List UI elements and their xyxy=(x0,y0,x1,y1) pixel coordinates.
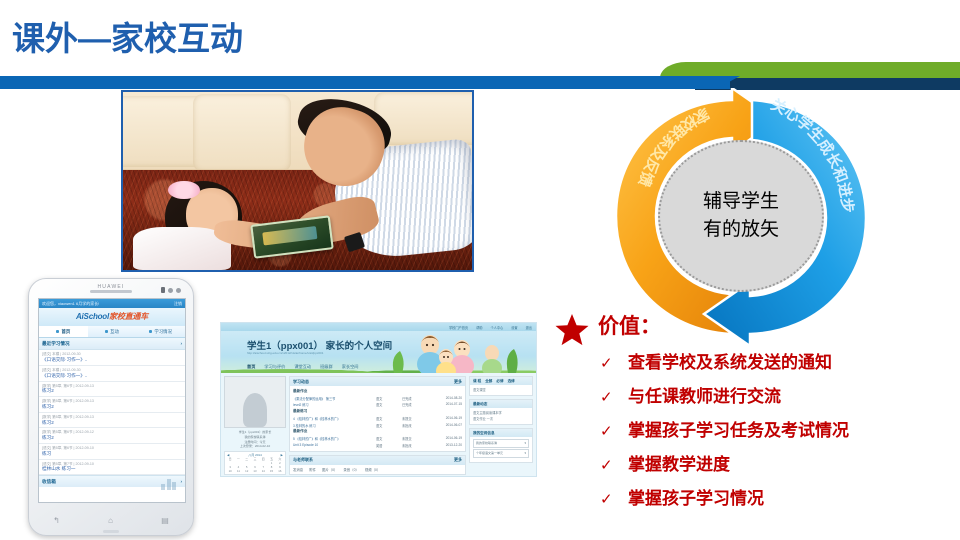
portal-nav-item[interactable]: 班级群 xyxy=(320,364,333,370)
latest-activity-panel: 最新动态 语文主题阅读课本学 语文作业 一次 xyxy=(469,399,533,425)
panel-title: 学习动态 xyxy=(293,379,309,385)
avatar-caption-login: 上次登录：2014-02-10 xyxy=(224,444,286,449)
row-status: 未批改 xyxy=(402,423,428,428)
portal-hero-banner: 学生1（ppx001） 家长的个人空间 http://aischool.szig… xyxy=(221,331,536,373)
row-title[interactable]: 《乘法分配律的运用》 第三节 xyxy=(293,396,376,401)
table-row[interactable]: 3 桂林的水 练习 语文 未批改 2014-06-07 xyxy=(293,422,462,429)
menu-icon[interactable]: ▤ xyxy=(161,516,169,525)
row-date: 2014-06-07 xyxy=(428,423,462,428)
panel-title: 我的空间信息 xyxy=(473,431,495,436)
panel-header: 学习动态 更多 xyxy=(290,377,465,386)
avatar-caption: 学生1（ppx001）的家长 我的家校联系簿 注册时间：今天 上次登录：2014… xyxy=(224,428,286,449)
row-subject: 英语 xyxy=(376,443,402,448)
panel-more-link[interactable]: 更多 xyxy=(454,457,462,463)
row-subject: 语文 xyxy=(376,416,402,421)
panel-header: 与老师联系 更多 xyxy=(290,456,465,465)
portal-left-column: 学生1（ppx001）的家长 我的家校联系簿 注册时间：今天 上次登录：2014… xyxy=(224,376,286,477)
app-tab-label: 首页 xyxy=(61,329,70,335)
study-dynamics-panel: 学习动态 更多 最新作业 《乘法分配律的运用》 第三节 语文 已完成 2014-… xyxy=(289,376,466,452)
app-tab-home[interactable]: 首页 xyxy=(39,326,88,338)
portal-nav: 首页 学习与评价 课堂互动 班级群 家长空间 xyxy=(247,364,358,370)
panel-title: 与老师联系 xyxy=(293,457,313,463)
avatar xyxy=(224,376,286,428)
course-panel: 课 程 全部 必修 选修 语文课堂 xyxy=(469,376,533,396)
app-logo-sub: 家校直通车 xyxy=(109,312,148,321)
phone-screen: 欢迎您，xiaowen1 6月学的家长! 注销 AiSchool家校直通车 首页… xyxy=(38,298,186,503)
image-upload-button[interactable]: 图片（0） xyxy=(322,467,337,472)
portal-body: 学生1（ppx001）的家长 我的家校联系簿 注册时间：今天 上次登录：2014… xyxy=(221,373,536,477)
select-value: 我的家校联系簿 xyxy=(476,441,497,447)
portal-top-strip: 学校门户首页 帮助 个人中心 设置 退出 xyxy=(221,323,536,331)
row-date: 2014-08-20 xyxy=(428,396,462,401)
app-logo-main: AiSchool xyxy=(76,312,109,321)
app-inbox-label: 收信箱 xyxy=(42,479,56,485)
back-icon[interactable]: ↰ xyxy=(53,516,60,525)
app-tab-bar: 首页 互动 学习情况 xyxy=(39,326,185,339)
panel-toolbar: 发消息 附件 图片（0） 录音（0） 视频（0） xyxy=(290,465,465,474)
chevron-right-icon[interactable]: › xyxy=(180,341,182,347)
parent-portal-screenshot: 学校门户首页 帮助 个人中心 设置 退出 xyxy=(220,322,537,477)
check-icon: ✓ xyxy=(600,388,616,406)
calendar-day[interactable]: 14 xyxy=(259,469,267,473)
red-star-icon xyxy=(554,312,590,348)
table-row[interactable]: Unit 3 Episode 10 英语 未批改 2013-12-20 xyxy=(293,442,462,449)
panel-body: 语文主题阅读课本学 语文作业 一次 xyxy=(470,408,532,424)
photo-girl-hairbow xyxy=(168,181,199,199)
app-tab-label: 互动 xyxy=(110,329,119,335)
row-date: 2014-06-19 xyxy=(428,416,462,421)
calendar-day[interactable]: 16 xyxy=(276,469,284,473)
family-illustration xyxy=(388,333,528,373)
calendar-day[interactable]: 10 xyxy=(226,469,234,473)
row-status: 已完成 xyxy=(402,396,428,401)
row-subject: 语文 xyxy=(376,423,402,428)
chat-icon xyxy=(105,330,108,333)
home-icon xyxy=(56,330,59,333)
value-item-label: 掌握教学进度 xyxy=(628,450,730,475)
value-list: ✓ 查看学校及系统发送的通知 ✓ 与任课教师进行交流 ✓ 掌握孩子学习任务及考试… xyxy=(600,348,849,518)
table-row[interactable]: 4 《桂林的广》和《桂林水的广》 语文 未提交 2014-06-19 xyxy=(293,415,462,422)
list-item-title[interactable]: 练习2 xyxy=(42,420,182,426)
row-subject: 语文 xyxy=(376,396,402,401)
portal-top-link[interactable]: 个人中心 xyxy=(491,325,504,330)
list-item: ✓ 掌握孩子学习情况 xyxy=(600,484,849,518)
row-title[interactable]: Unit 3 Episode 10 xyxy=(293,443,376,448)
row-status: 未批改 xyxy=(402,443,428,448)
list-item-title[interactable]: 练习2 xyxy=(42,404,182,410)
app-tab-interact[interactable]: 互动 xyxy=(88,326,137,338)
group-title: 最新练习 xyxy=(293,408,462,415)
row-date: 2013-12-20 xyxy=(428,443,462,448)
portal-nav-item[interactable]: 学习与评价 xyxy=(264,364,285,370)
attachment-icon[interactable]: 附件 xyxy=(309,467,316,472)
portal-url-text: http://aischool.szig.edu.cn/v2012/visite… xyxy=(247,351,323,355)
row-title[interactable]: level2 练习 xyxy=(293,402,376,407)
app-section-header: 最近学习情况 › xyxy=(39,338,185,350)
filter-tag[interactable]: 全部 xyxy=(485,379,492,384)
row-title[interactable]: 4 《桂林的广》和《桂林水的广》 xyxy=(293,416,376,421)
photo-tablet-screen xyxy=(262,226,317,246)
chevron-down-icon[interactable]: ▾ xyxy=(524,441,526,447)
portal-top-link[interactable]: 退出 xyxy=(526,325,532,330)
check-icon: ✓ xyxy=(600,354,616,372)
panel-header: 最新动态 xyxy=(470,400,532,408)
list-item[interactable]: [数学] 第5章, 第6节 | 2012-09-13 练习2 xyxy=(39,382,185,398)
list-item-title[interactable]: 《口语交际·习作一》.. xyxy=(42,373,182,379)
row-subject: 语文 xyxy=(376,436,402,441)
phone-bottom-bar xyxy=(103,530,119,533)
list-item[interactable]: [数学] 第5章, 第6节 | 2012-09-13 练习2 xyxy=(39,413,185,429)
video-upload-button[interactable]: 视频（0） xyxy=(365,467,380,472)
group-title: 最新作业 xyxy=(293,388,462,395)
portal-top-link[interactable]: 设置 xyxy=(511,325,517,330)
panel-header: 课 程 全部 必修 选修 xyxy=(470,377,532,385)
row-date: 2014-07-15 xyxy=(428,402,462,407)
app-welcome-text: 欢迎您，xiaowen1 6月学的家长! xyxy=(42,301,99,306)
panel-title: 课 程 xyxy=(473,379,481,384)
battery-icon xyxy=(161,287,165,293)
portal-page-title: 学生1（ppx001） 家长的个人空间 xyxy=(247,338,392,352)
portal-nav-item[interactable]: 课堂互动 xyxy=(294,364,311,370)
portal-middle-column: 学习动态 更多 最新作业 《乘法分配律的运用》 第三节 语文 已完成 2014-… xyxy=(289,376,466,477)
row-title[interactable]: 3 桂林的水 练习 xyxy=(293,423,376,428)
row-title[interactable]: 5 《桂林的广》和《桂林水的广》 xyxy=(293,436,376,441)
chart-icon xyxy=(149,330,152,333)
table-row[interactable]: 《乘法分配律的运用》 第三节 语文 已完成 2014-08-20 xyxy=(293,395,462,402)
group-title: 最新作业 xyxy=(293,428,462,435)
select-value: 个年级语文第一单元 xyxy=(476,451,503,457)
watermark-chart-icon xyxy=(161,476,181,490)
panel-title: 最新动态 xyxy=(473,402,487,407)
app-tab-label: 学习情况 xyxy=(154,329,172,335)
panel-body: 最新作业 《乘法分配律的运用》 第三节 语文 已完成 2014-08-20 le… xyxy=(290,386,465,451)
portal-top-link[interactable]: 帮助 xyxy=(476,325,482,330)
family-photo xyxy=(121,90,474,272)
app-section-title: 最近学习情况 xyxy=(42,341,70,347)
phone-nav-buttons: ↰ ⌂ ▤ xyxy=(29,516,193,525)
cycle-center-line2: 有的放矢 xyxy=(703,216,779,244)
list-item-title[interactable]: 《口语交际·习作一》.. xyxy=(42,357,182,363)
list-item[interactable]: [语文] 第5章, 第6节 | 2012-09-10 练习 xyxy=(39,444,185,460)
calendar-day[interactable]: 12 xyxy=(243,469,251,473)
cycle-center-label: 辅导学生 有的放矢 xyxy=(658,140,824,292)
row-subject: 语文 xyxy=(376,402,402,407)
my-space-panel: 我的空间信息 我的家校联系簿 ▾ 个年级语文第一单元 ▾ xyxy=(469,428,533,462)
send-message-button[interactable]: 发消息 xyxy=(293,467,303,472)
value-item-label: 与任课教师进行交流 xyxy=(628,382,781,407)
list-item[interactable]: [语文] 本模 | 2012-09-30 《口语交际·习作一》.. xyxy=(39,366,185,382)
audio-upload-button[interactable]: 录音（0） xyxy=(343,467,358,472)
list-item-title[interactable]: 练习 xyxy=(42,451,182,457)
panel-header: 我的空间信息 xyxy=(470,429,532,437)
dot-icon xyxy=(168,288,173,293)
check-icon: ✓ xyxy=(600,422,616,440)
camera-icon xyxy=(176,288,181,293)
value-item-label: 掌握孩子学习情况 xyxy=(628,484,764,509)
filter-tag[interactable]: 选修 xyxy=(508,379,515,384)
row-status: 未提交 xyxy=(402,416,428,421)
calendar-day[interactable]: 15 xyxy=(267,469,275,473)
list-item-title[interactable]: 桂林山水 练习一 xyxy=(42,466,182,472)
cycle-center-line1: 辅导学生 xyxy=(703,188,779,216)
table-row[interactable]: 5 《桂林的广》和《桂林水的广》 语文 未提交 2014-06-19 xyxy=(293,435,462,442)
list-item[interactable]: [数学] 第5章, 第6节 | 2012-09-13 练习2 xyxy=(39,397,185,413)
portal-top-link[interactable]: 学校门户首页 xyxy=(449,325,468,330)
list-item: ✓ 查看学校及系统发送的通知 xyxy=(600,348,849,382)
filter-tag[interactable]: 必修 xyxy=(496,379,503,384)
panel-body: 我的家校联系簿 ▾ 个年级语文第一单元 ▾ xyxy=(470,437,532,461)
app-top-bar: 欢迎您，xiaowen1 6月学的家长! 注销 xyxy=(39,299,185,308)
activity-item[interactable]: 语文作业 一次 xyxy=(473,416,529,422)
app-tab-study[interactable]: 学习情况 xyxy=(136,326,185,338)
portal-right-column: 课 程 全部 必修 选修 语文课堂 最新动态 语文主题阅读课本学 xyxy=(469,376,533,477)
app-study-list: [语文] 本模 | 2012-09-30 《口语交际·习作一》.. [语文] 本… xyxy=(39,350,185,475)
list-item: ✓ 掌握孩子学习任务及考试情况 xyxy=(600,416,849,450)
check-icon: ✓ xyxy=(600,490,616,508)
list-item[interactable]: [数学] 第5章, 第6节 | 2012-09-12 练习2 xyxy=(39,428,185,444)
phone-mockup: HUAWEI 欢迎您，xiaowen1 6月学的家长! 注销 AiSchool家… xyxy=(28,278,194,536)
row-date: 2014-06-19 xyxy=(428,436,462,441)
list-item[interactable]: [语文] 第5章, 第7节 | 2012-09-10 桂林山水 练习一 xyxy=(39,460,185,476)
panel-body: 语文课堂 xyxy=(470,385,532,395)
value-item-label: 掌握孩子学习任务及考试情况 xyxy=(628,416,849,441)
contact-teacher-panel: 与老师联系 更多 发消息 附件 图片（0） 录音（0） 视频（0） xyxy=(289,455,466,475)
phone-status-icons xyxy=(161,287,181,293)
home-icon[interactable]: ⌂ xyxy=(108,516,113,525)
value-heading: 价值： xyxy=(598,310,661,340)
check-icon: ✓ xyxy=(600,456,616,474)
row-status: 已完成 xyxy=(402,402,428,407)
user-avatar-icon xyxy=(243,393,267,427)
app-logout-link[interactable]: 注销 xyxy=(174,301,182,306)
calendar-day[interactable]: 11 xyxy=(234,469,242,473)
chevron-down-icon[interactable]: ▾ xyxy=(524,451,526,457)
photo-cushion xyxy=(193,94,291,172)
panel-more-link[interactable]: 更多 xyxy=(454,379,462,385)
portal-nav-item[interactable]: 首页 xyxy=(247,364,255,370)
page-title: 课外—家校互动 xyxy=(12,12,243,60)
phone-speaker-grille xyxy=(90,290,132,293)
portal-nav-item[interactable]: 家长空间 xyxy=(342,364,359,370)
select-dropdown[interactable]: 我的家校联系簿 ▾ xyxy=(473,439,529,448)
cycle-diagram: 家校联系及反馈 关心学生成长和进步 辅导学生 有的放矢 xyxy=(602,88,880,346)
list-item[interactable]: [语文] 本模 | 2012-09-30 《口语交际·习作一》.. xyxy=(39,350,185,366)
list-item: ✓ 掌握教学进度 xyxy=(600,450,849,484)
course-item[interactable]: 语文课堂 xyxy=(473,387,529,393)
list-item-title[interactable]: 练习2 xyxy=(42,388,182,394)
value-item-label: 查看学校及系统发送的通知 xyxy=(628,348,832,373)
table-row[interactable]: level2 练习 语文 已完成 2014-07-15 xyxy=(293,402,462,409)
app-logo: AiSchool家校直通车 xyxy=(39,308,185,325)
select-dropdown[interactable]: 个年级语文第一单元 ▾ xyxy=(473,449,529,458)
calendar-week-row: 10 11 12 13 14 15 16 xyxy=(226,469,284,473)
calendar-widget[interactable]: ◀ 八月 2014 ▶ 日 一 二 三 四 五 六 xyxy=(224,451,286,475)
list-item-title[interactable]: 练习2 xyxy=(42,435,182,441)
slide-canvas: 课外—家校互动 xyxy=(0,0,960,540)
list-item: ✓ 与任课教师进行交流 xyxy=(600,382,849,416)
row-status: 未提交 xyxy=(402,436,428,441)
calendar-day[interactable]: 13 xyxy=(251,469,259,473)
